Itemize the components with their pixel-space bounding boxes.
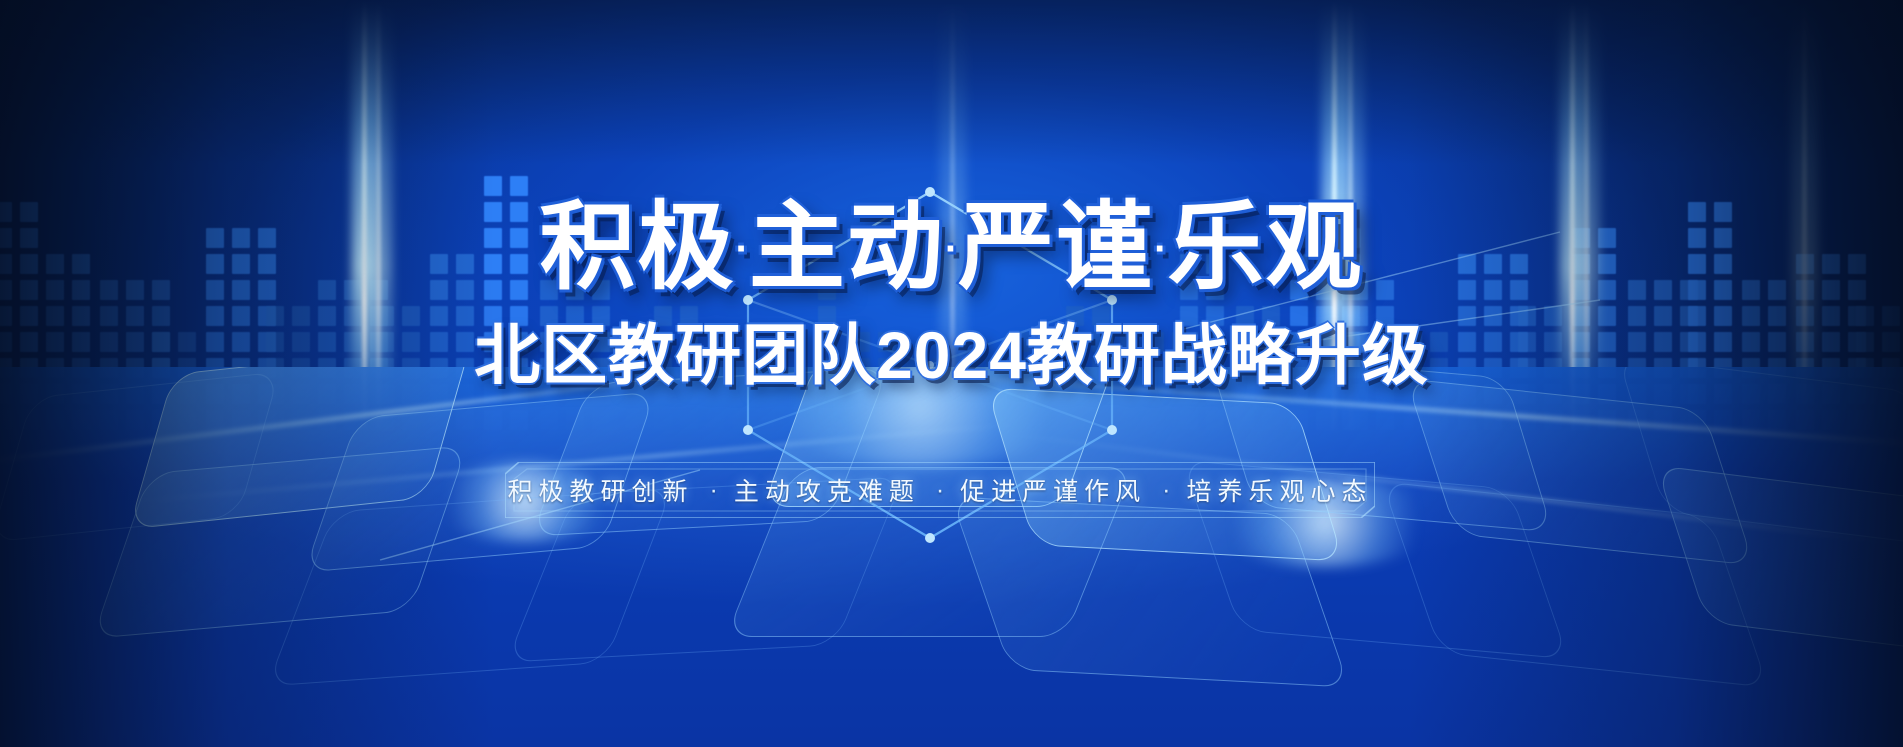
tagline-item: 积极教研创新 — [507, 472, 693, 508]
title-word: 主动 — [749, 194, 945, 301]
page-title: 积极·主动·严谨·乐观 — [0, 200, 1903, 296]
tagline-item: 主动攻克难题 — [734, 472, 920, 508]
banner-content: 积极·主动·严谨·乐观 北区教研团队2024教研战略升级 积极教研创新·主动攻克… — [0, 0, 1903, 747]
tagline-separator-dot: · — [1146, 476, 1186, 505]
title-word: 积极 — [540, 194, 736, 301]
page-subtitle: 北区教研团队2024教研战略升级 — [0, 322, 1903, 388]
title-word: 严谨 — [958, 194, 1154, 301]
tagline: 积极教研创新·主动攻克难题·促进严谨作风·培养乐观心态 — [505, 462, 1375, 518]
tagline-separator-dot: · — [693, 476, 733, 505]
tagline-separator-dot: · — [920, 476, 960, 505]
title-word: 乐观 — [1167, 194, 1363, 301]
title-separator-dot: · — [1154, 227, 1167, 271]
title-separator-dot: · — [945, 227, 958, 271]
tagline-item: 促进严谨作风 — [960, 472, 1146, 508]
tagline-frame: 积极教研创新·主动攻克难题·促进严谨作风·培养乐观心态 — [505, 462, 1375, 518]
banner-root: 积极·主动·严谨·乐观 北区教研团队2024教研战略升级 积极教研创新·主动攻克… — [0, 0, 1903, 747]
tagline-item: 培养乐观心态 — [1187, 472, 1373, 508]
title-separator-dot: · — [736, 227, 749, 271]
